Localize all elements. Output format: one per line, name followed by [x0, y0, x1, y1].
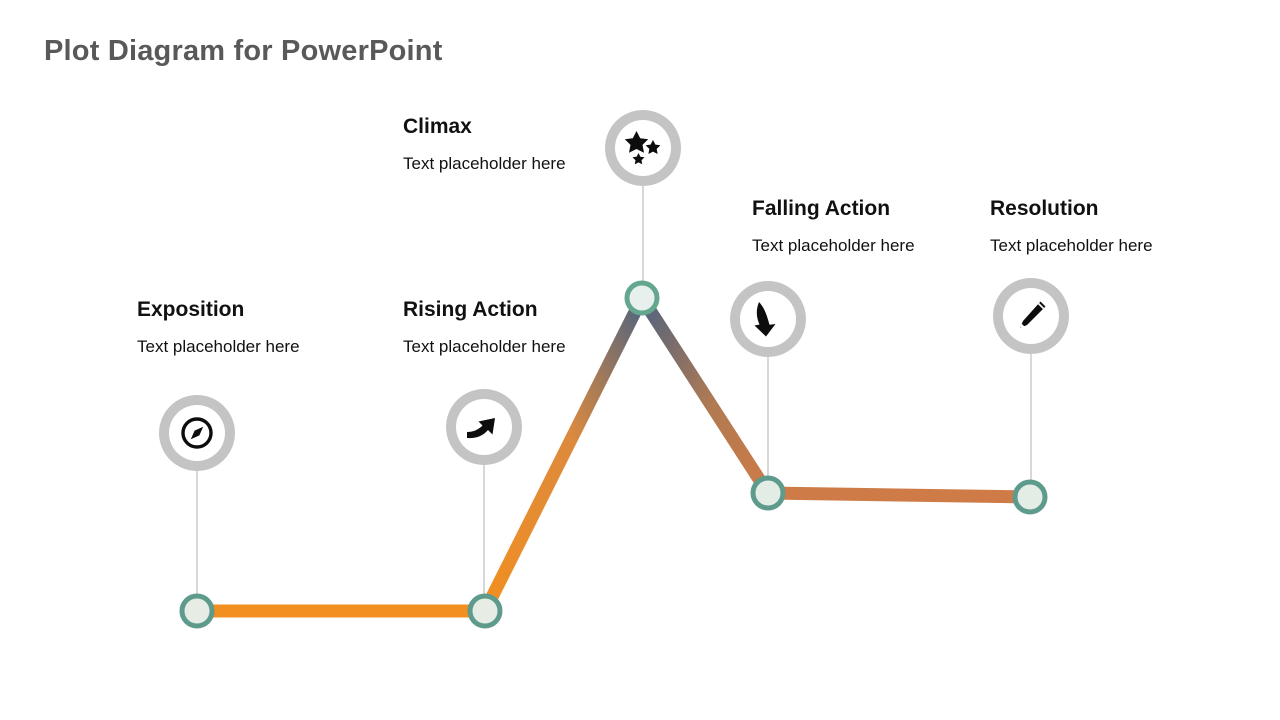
icon-badge-inner-falling-action [740, 291, 796, 347]
stage-subtitle-resolution: Text placeholder here [990, 235, 1153, 257]
icon-badge-climax[interactable] [605, 110, 681, 186]
stage-label-rising-action: Rising Action Text placeholder here [403, 298, 566, 358]
stage-subtitle-exposition: Text placeholder here [137, 336, 300, 358]
stage-subtitle-rising-action: Text placeholder here [403, 336, 566, 358]
arrow-down-icon [753, 300, 783, 338]
stage-label-climax: Climax Text placeholder here [403, 115, 566, 175]
node-resolution[interactable] [1015, 482, 1045, 512]
icon-badge-inner-rising-action [456, 399, 512, 455]
stage-title-resolution: Resolution [990, 197, 1153, 221]
stars-icon [623, 129, 663, 167]
plot-nodes [182, 283, 1045, 626]
stage-label-resolution: Resolution Text placeholder here [990, 197, 1153, 257]
compass-icon [179, 415, 215, 451]
node-climax[interactable] [627, 283, 657, 313]
stage-subtitle-climax: Text placeholder here [403, 153, 566, 175]
plot-diagram-chart [0, 0, 1280, 720]
stage-label-exposition: Exposition Text placeholder here [137, 298, 300, 358]
stage-title-rising-action: Rising Action [403, 298, 566, 322]
icon-badge-inner-exposition [169, 405, 225, 461]
icon-badge-inner-climax [615, 120, 671, 176]
plot-line [197, 298, 1030, 611]
node-exposition[interactable] [182, 596, 212, 626]
node-rising-action[interactable] [470, 596, 500, 626]
slide-canvas: Plot Diagram for PowerPoint [0, 0, 1280, 720]
icon-badge-resolution[interactable] [993, 278, 1069, 354]
stage-title-falling-action: Falling Action [752, 197, 915, 221]
stage-subtitle-falling-action: Text placeholder here [752, 235, 915, 257]
arrow-up-right-icon [465, 410, 503, 444]
stage-label-falling-action: Falling Action Text placeholder here [752, 197, 915, 257]
icon-badge-falling-action[interactable] [730, 281, 806, 357]
icon-badge-rising-action[interactable] [446, 389, 522, 465]
segment-falling-resolution [768, 493, 1030, 497]
stage-title-climax: Climax [403, 115, 566, 139]
node-falling-action[interactable] [753, 478, 783, 508]
pencil-icon [1014, 299, 1048, 333]
stage-title-exposition: Exposition [137, 298, 300, 322]
icon-badge-inner-resolution [1003, 288, 1059, 344]
icon-badge-exposition[interactable] [159, 395, 235, 471]
